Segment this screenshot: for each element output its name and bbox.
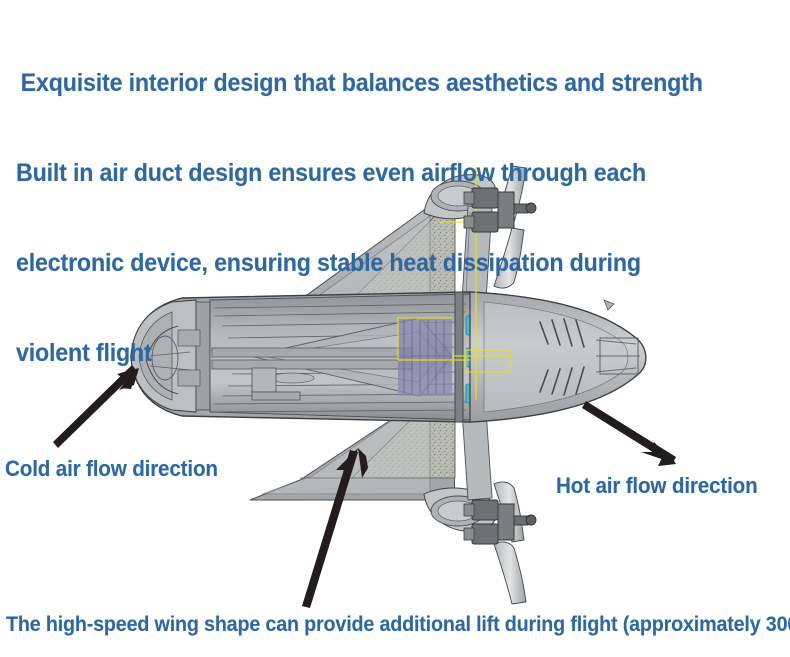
header-line-4: violent flight bbox=[16, 338, 723, 368]
header-paragraph: Exquisite interior design that balances … bbox=[16, 8, 723, 428]
wing-lift-caption: The high-speed wing shape can provide ad… bbox=[6, 613, 790, 637]
header-line-1: Exquisite interior design that balances … bbox=[21, 68, 723, 98]
cold-air-flow-label: Cold air flow direction bbox=[5, 456, 218, 482]
header-line-3: electronic device, ensuring stable heat … bbox=[16, 248, 723, 278]
tilt-rotor-bottom bbox=[464, 482, 536, 604]
hot-air-flow-label: Hot air flow direction bbox=[556, 473, 758, 499]
diagram-canvas: Exquisite interior design that balances … bbox=[0, 0, 790, 657]
header-line-2: Built in air duct design ensures even ai… bbox=[16, 158, 723, 188]
